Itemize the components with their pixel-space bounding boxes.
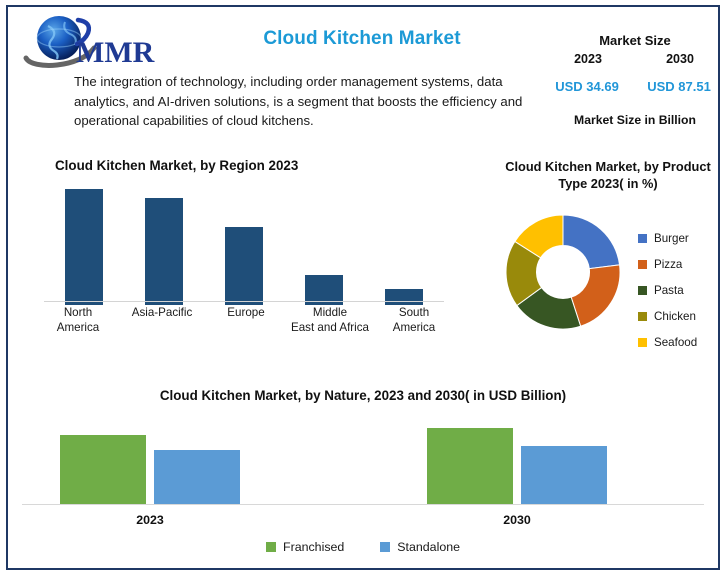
legend-item: Franchised (266, 540, 344, 554)
page-title: Cloud Kitchen Market (232, 28, 492, 50)
market-size-years: 2023 2030 (548, 52, 720, 66)
product-type-donut-chart (504, 213, 622, 331)
legend-swatch (380, 542, 390, 552)
market-size-year-end: 2030 (640, 52, 720, 66)
logo-wordmark: MMR (76, 36, 155, 69)
nature-group-label: 2023 (110, 513, 190, 527)
region-bar-label: Asia-Pacific (120, 306, 204, 335)
legend-swatch (638, 312, 647, 321)
market-size-unit-note: Market Size in Billion (555, 113, 715, 127)
region-chart-axis (44, 301, 444, 302)
product-type-chart-title: Cloud Kitchen Market, by Product Type 20… (497, 158, 719, 192)
nature-bar (521, 446, 607, 504)
region-bar (145, 198, 183, 305)
legend-item: Standalone (380, 540, 460, 554)
infographic-canvas: MMR Cloud Kitchen Market The integration… (0, 0, 726, 577)
legend-label: Seafood (654, 336, 697, 349)
nature-bar (427, 428, 513, 504)
legend-label: Chicken (654, 310, 696, 323)
legend-label: Pizza (654, 258, 682, 271)
nature-chart-legend: FranchisedStandalone (0, 540, 726, 554)
legend-swatch (638, 338, 647, 347)
region-chart-x-labels: NorthAmericaAsia-PacificEuropeMiddleEast… (36, 306, 456, 335)
legend-swatch (638, 260, 647, 269)
legend-item: Burger (638, 227, 722, 249)
product-type-legend: BurgerPizzaPastaChickenSeafood (638, 227, 722, 357)
legend-swatch (266, 542, 276, 552)
legend-label: Pasta (654, 284, 684, 297)
legend-item: Chicken (638, 305, 722, 327)
legend-item: Pizza (638, 253, 722, 275)
mmr-logo: MMR (18, 12, 158, 70)
market-size-year-start: 2023 (548, 52, 628, 66)
legend-label: Standalone (397, 540, 460, 554)
nature-bar (154, 450, 240, 504)
nature-chart-title: Cloud Kitchen Market, by Nature, 2023 an… (0, 388, 726, 403)
intro-paragraph: The integration of technology, including… (74, 72, 526, 131)
legend-item: Seafood (638, 331, 722, 353)
nature-chart-axis (22, 504, 704, 505)
nature-bar (60, 435, 146, 504)
region-bar-label: MiddleEast and Africa (288, 306, 372, 335)
region-bar (225, 227, 263, 305)
donut-slice (571, 265, 620, 326)
region-bar-label: Europe (204, 306, 288, 335)
nature-group-label: 2030 (477, 513, 557, 527)
region-bar-label: NorthAmerica (36, 306, 120, 335)
globe-swoosh-icon: MMR (18, 12, 158, 70)
nature-bar-chart (0, 404, 726, 504)
region-bar (385, 289, 423, 305)
legend-swatch (638, 286, 647, 295)
legend-label: Franchised (283, 540, 344, 554)
region-bar-label: SouthAmerica (372, 306, 456, 335)
region-bar-chart (44, 185, 444, 305)
legend-item: Pasta (638, 279, 722, 301)
legend-swatch (638, 234, 647, 243)
region-bar (65, 189, 103, 305)
market-size-heading: Market Size (560, 33, 710, 48)
legend-label: Burger (654, 232, 689, 245)
market-size-value-start: USD 34.69 (543, 79, 631, 94)
market-size-values: USD 34.69 USD 87.51 (543, 79, 723, 94)
region-chart-title: Cloud Kitchen Market, by Region 2023 (55, 158, 298, 173)
market-size-value-end: USD 87.51 (635, 79, 723, 94)
donut-slice (563, 215, 620, 269)
